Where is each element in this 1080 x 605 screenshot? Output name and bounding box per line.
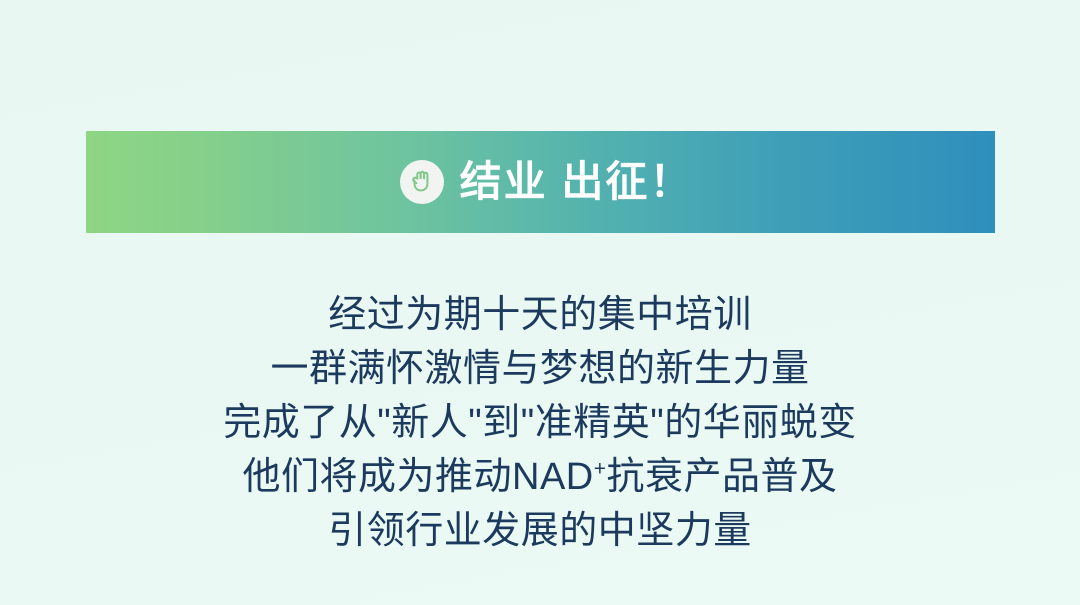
slide-canvas: 结业 出征！ 经过为期十天的集中培训 一群满怀激情与梦想的新生力量 完成了从"新… — [0, 0, 1080, 605]
banner-content: 结业 出征！ — [400, 160, 694, 204]
body-line-5: 引领行业发展的中坚力量 — [0, 504, 1080, 558]
body-line-2: 一群满怀激情与梦想的新生力量 — [0, 342, 1080, 396]
banner-title: 结业 出征！ — [460, 161, 694, 203]
body-paragraph: 经过为期十天的集中培训 一群满怀激情与梦想的新生力量 完成了从"新人"到"准精英… — [0, 288, 1080, 558]
raised-fist-icon — [400, 160, 444, 204]
body-line-4: 他们将成为推动NAD+抗衰产品普及 — [0, 450, 1080, 504]
body-line-4-prefix: 他们将成为推动NAD — [243, 456, 594, 498]
headline-banner: 结业 出征！ — [86, 131, 995, 233]
nad-plus-superscript: + — [594, 457, 607, 480]
body-line-3: 完成了从"新人"到"准精英"的华丽蜕变 — [0, 396, 1080, 450]
body-line-4-suffix: 抗衰产品普及 — [606, 456, 837, 498]
body-line-1: 经过为期十天的集中培训 — [0, 288, 1080, 342]
